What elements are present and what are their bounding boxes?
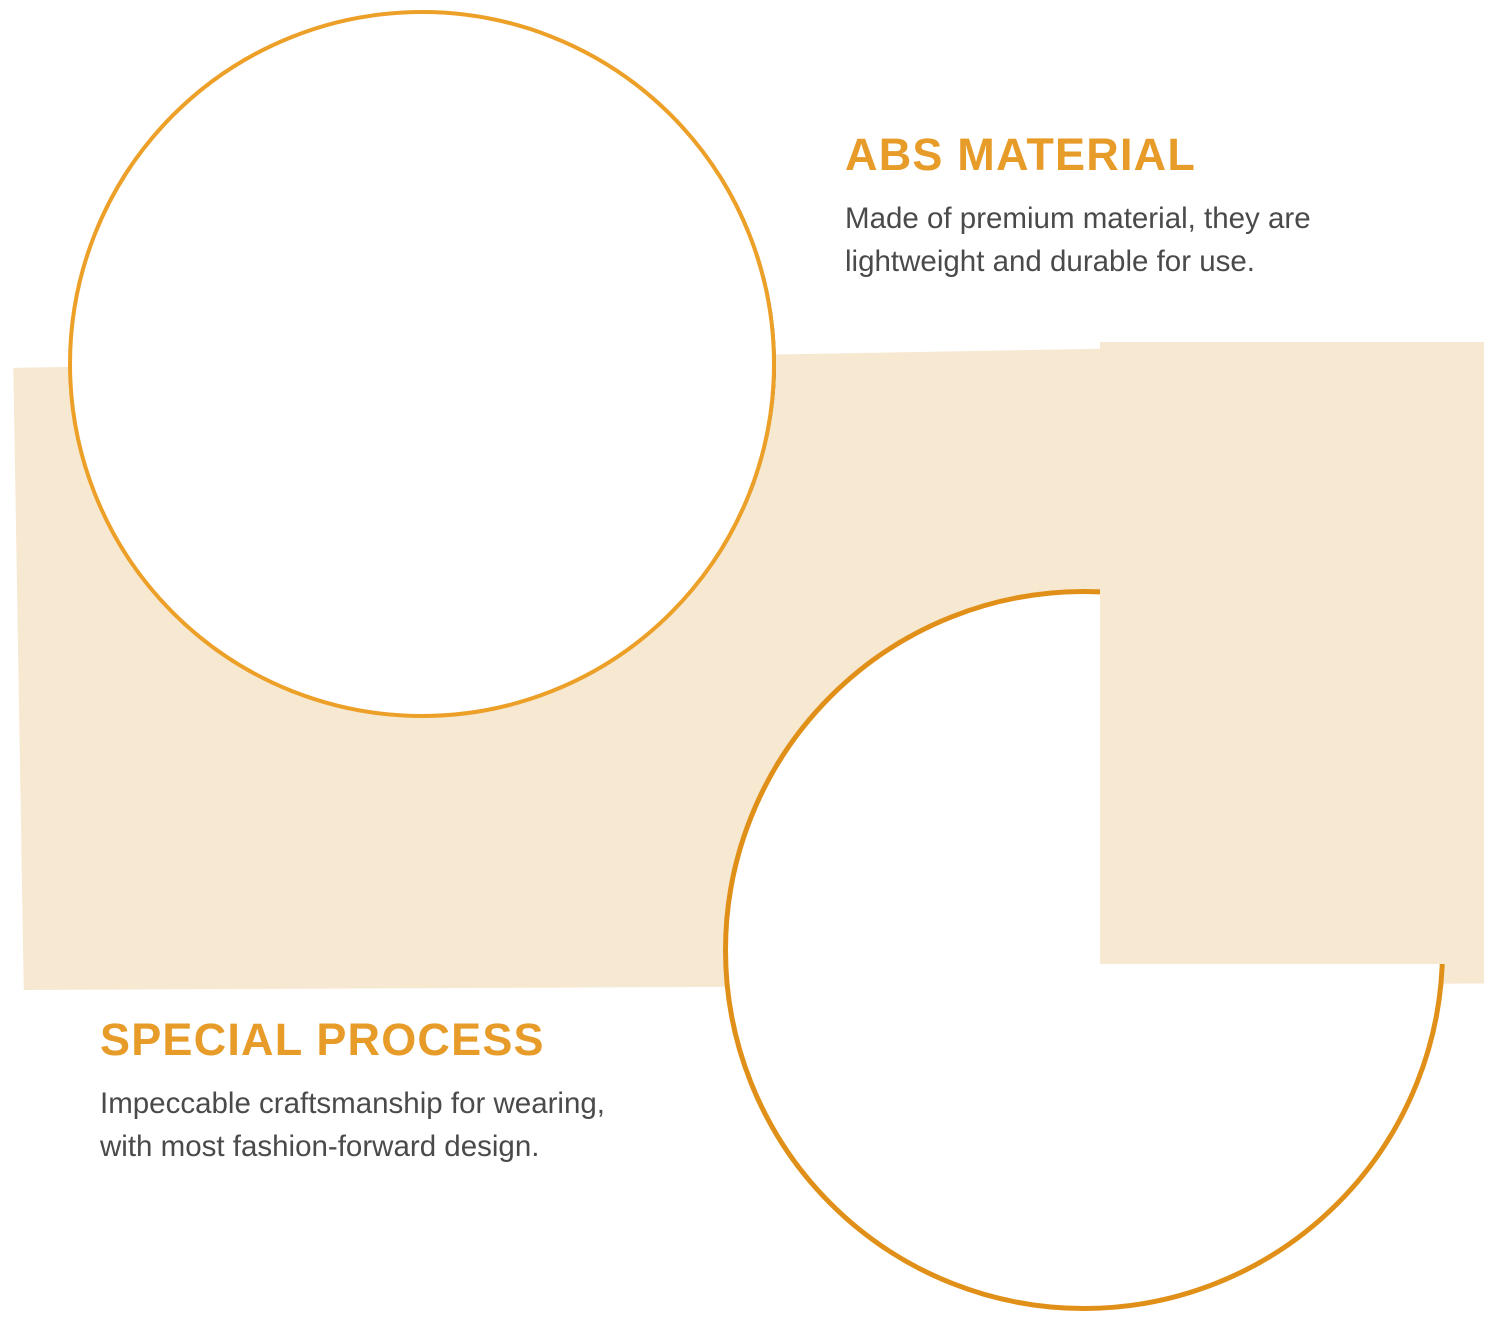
- feature-description-line: Made of premium material, they are: [845, 198, 1311, 241]
- feature-description-line: Impeccable craftsmanship for wearing,: [100, 1083, 605, 1126]
- feature-description: Impeccable craftsmanship for wearing, wi…: [100, 1083, 605, 1169]
- feature-description-line: with most fashion-forward design.: [100, 1126, 605, 1169]
- product-feature-infographic: ABS MATERIAL Made of premium material, t…: [0, 0, 1500, 1319]
- letter-o2-top-red: [752, 148, 776, 234]
- feature-title: ABS MATERIAL: [845, 131, 1311, 178]
- feature-special-process: SPECIAL PROCESS Impeccable craftsmanship…: [100, 1016, 605, 1169]
- photo-ring-top-left: [68, 10, 776, 718]
- beige-band-overlap: [1100, 342, 1484, 964]
- feature-abs-material: ABS MATERIAL Made of premium material, t…: [845, 131, 1311, 284]
- feature-title: SPECIAL PROCESS: [100, 1016, 605, 1063]
- feature-description-line: lightweight and durable for use.: [845, 241, 1311, 284]
- feature-description: Made of premium material, they are light…: [845, 198, 1311, 284]
